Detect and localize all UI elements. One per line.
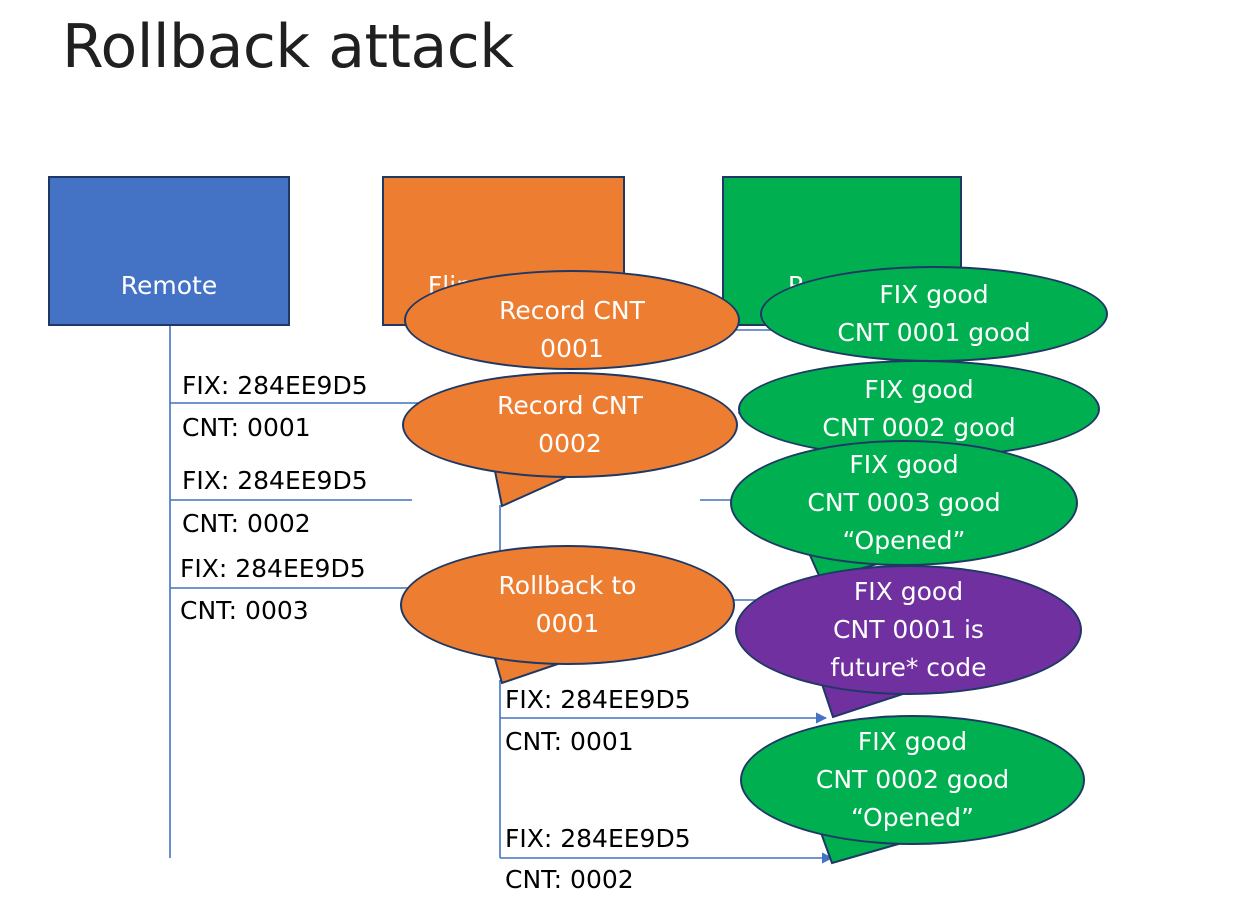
callout-cnt-0003-opened-label: FIX good CNT 0003 good “Opened”: [730, 440, 1078, 566]
message-label-remote-2-fix: FIX: 284EE9D5: [182, 466, 368, 496]
callout-record-0002-label: Record CNT 0002: [402, 372, 738, 478]
slide-canvas: Rollback attack: [0, 0, 1233, 898]
callout-record-0001[interactable]: Record CNT 0001: [404, 270, 740, 370]
callout-rollback-0001[interactable]: Rollback to 0001: [400, 545, 735, 665]
callout-record-0001-label: Record CNT 0001: [404, 270, 740, 370]
message-label-flipper-1-cnt: CNT: 0001: [505, 727, 634, 757]
callout-cnt-0002-opened[interactable]: FIX good CNT 0002 good “Opened”: [740, 715, 1085, 845]
callout-rollback-0001-label: Rollback to 0001: [400, 545, 735, 665]
callout-cnt-0003-opened[interactable]: FIX good CNT 0003 good “Opened”: [730, 440, 1078, 566]
message-label-remote-3-fix: FIX: 284EE9D5: [180, 554, 366, 584]
callout-cnt-0001-good[interactable]: FIX good CNT 0001 good: [760, 266, 1108, 362]
message-label-remote-3-cnt: CNT: 0003: [180, 596, 309, 626]
message-label-flipper-2-fix: FIX: 284EE9D5: [505, 824, 691, 854]
message-label-remote-2-cnt: CNT: 0002: [182, 509, 311, 539]
message-label-remote-1-fix: FIX: 284EE9D5: [182, 371, 368, 401]
callout-cnt-0001-future-label: FIX good CNT 0001 is future* code: [735, 565, 1082, 695]
callout-cnt-0002-opened-label: FIX good CNT 0002 good “Opened”: [740, 715, 1085, 845]
callout-record-0002[interactable]: Record CNT 0002: [402, 372, 738, 478]
callout-cnt-0001-good-label: FIX good CNT 0001 good: [760, 266, 1108, 362]
lane-remote[interactable]: Remote: [48, 176, 290, 326]
message-label-remote-1-cnt: CNT: 0001: [182, 413, 311, 443]
message-label-flipper-2-cnt: CNT: 0002: [505, 865, 634, 895]
callout-cnt-0001-future[interactable]: FIX good CNT 0001 is future* code: [735, 565, 1082, 695]
lane-remote-label: Remote: [121, 272, 217, 300]
